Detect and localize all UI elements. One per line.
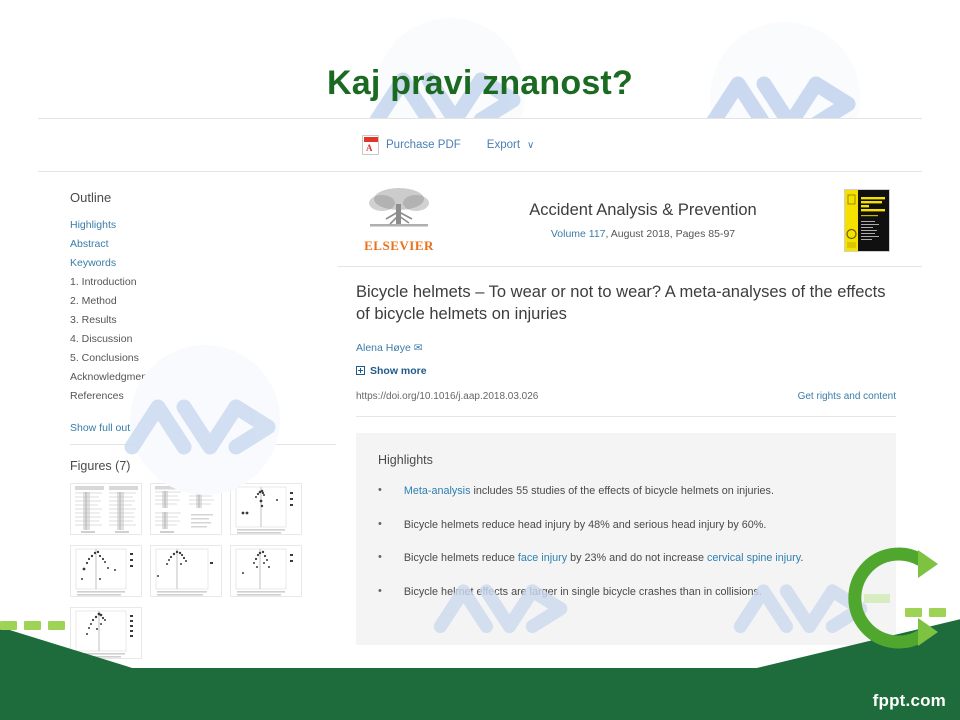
funnel-plot-icon <box>231 484 302 535</box>
show-full-outline-label: Show full outline <box>70 422 146 434</box>
divider-article <box>356 416 896 417</box>
chevron-down-icon: ∨ <box>152 423 159 434</box>
bullet-icon: • <box>378 517 382 534</box>
meta-analysis-link[interactable]: Meta-analysis <box>404 485 471 497</box>
highlight-item: • Bicycle helmets reduce face injury by … <box>378 550 874 567</box>
highlight-text-a: Bicycle helmets reduce <box>404 552 518 564</box>
export-label: Export <box>487 139 520 151</box>
forest-plot-icon <box>71 484 142 535</box>
highlight-item: • Meta-analysis includes 55 studies of t… <box>378 483 874 500</box>
divider-outline <box>70 444 336 445</box>
chevron-down-icon: ∨ <box>527 140 534 151</box>
sidebar-item-conclusions[interactable]: 5. Conclusions <box>70 352 338 364</box>
figure-thumbnail[interactable] <box>70 483 142 535</box>
sidebar-item-keywords[interactable]: Keywords <box>70 257 338 269</box>
sidebar-item-discussion[interactable]: 4. Discussion <box>70 333 338 345</box>
figure-thumbnail-grid <box>70 483 338 659</box>
fppt-watermark: fppt.com <box>873 691 946 711</box>
article-meta: Bicycle helmets – To wear or not to wear… <box>338 267 922 417</box>
show-more-button[interactable]: Show more <box>356 365 896 377</box>
forest-plot-icon <box>151 484 222 535</box>
doi-link[interactable]: https://doi.org/10.1016/j.aap.2018.03.02… <box>356 391 538 402</box>
purchase-pdf-label: Purchase PDF <box>386 139 461 151</box>
article-title: Bicycle helmets – To wear or not to wear… <box>356 281 896 326</box>
journal-issue-meta: , August 2018, Pages 85-97 <box>606 228 736 240</box>
export-button[interactable]: Export ∨ <box>487 139 535 151</box>
plus-box-icon <box>356 366 365 375</box>
face-injury-link[interactable]: face injury <box>518 552 567 564</box>
figure-thumbnail[interactable] <box>70 545 142 597</box>
funnel-plot-icon <box>231 546 302 597</box>
pdf-icon <box>362 135 379 155</box>
slide-canvas: Kaj pravi znanost? Purchase PDF Export ∨… <box>0 0 960 720</box>
doi-row: https://doi.org/10.1016/j.aap.2018.03.02… <box>356 391 896 402</box>
figures-heading: Figures (7) <box>70 459 338 473</box>
highlights-panel: Highlights • Meta-analysis includes 55 s… <box>356 433 896 645</box>
highlight-item: • Bicycle helmet effects are larger in s… <box>378 584 874 601</box>
show-more-label: Show more <box>370 365 427 377</box>
outline-list: Highlights Abstract Keywords 1. Introduc… <box>70 219 338 402</box>
sidebar-item-abstract[interactable]: Abstract <box>70 238 338 250</box>
green-band-bottom <box>0 668 960 720</box>
elsevier-tree-icon <box>362 186 436 232</box>
figure-thumbnail[interactable] <box>150 483 222 535</box>
journal-header: ELSEVIER Accident Analysis & Prevention … <box>338 172 922 266</box>
sidebar-item-introduction[interactable]: 1. Introduction <box>70 276 338 288</box>
sidebar-item-results[interactable]: 3. Results <box>70 314 338 326</box>
highlight-text-b: by 23% and do not increase <box>567 552 707 564</box>
highlight-text: Bicycle helmets reduce head injury by 48… <box>404 517 767 534</box>
sidebar-item-method[interactable]: 2. Method <box>70 295 338 307</box>
outline-sidebar: Outline Highlights Abstract Keywords 1. … <box>38 172 338 659</box>
bullet-icon: • <box>378 550 382 567</box>
purchase-pdf-button[interactable]: Purchase PDF <box>362 135 461 155</box>
cervical-spine-injury-link[interactable]: cervical spine injury <box>707 552 800 564</box>
journal-name: Accident Analysis & Prevention <box>452 201 834 220</box>
bullet-icon: • <box>378 483 382 500</box>
funnel-plot-icon <box>151 546 222 597</box>
figure-thumbnail[interactable] <box>230 545 302 597</box>
article-author[interactable]: Alena Høye ✉ <box>356 342 896 354</box>
get-rights-link[interactable]: Get rights and content <box>798 391 896 402</box>
green-arrow-arc-decoration <box>826 538 946 658</box>
highlight-text: Bicycle helmets reduce face injury by 23… <box>404 550 804 567</box>
slide-title: Kaj pravi znanost? <box>0 64 960 103</box>
sidebar-item-highlights[interactable]: Highlights <box>70 219 338 231</box>
highlights-heading: Highlights <box>378 453 874 467</box>
dash-decoration-left <box>0 621 65 630</box>
highlight-item: • Bicycle helmets reduce head injury by … <box>378 517 874 534</box>
funnel-plot-icon <box>71 546 142 597</box>
figure-thumbnail[interactable] <box>70 607 142 659</box>
outline-heading: Outline <box>70 190 338 205</box>
elsevier-wordmark: ELSEVIER <box>356 238 442 254</box>
highlight-text: Meta-analysis includes 55 studies of the… <box>404 483 774 500</box>
sciencedirect-screenshot: Purchase PDF Export ∨ Outline Highlights… <box>38 118 922 691</box>
show-full-outline-button[interactable]: Show full outline ∨ <box>70 422 338 434</box>
bullet-icon: • <box>378 584 382 601</box>
journal-meta: Volume 117, August 2018, Pages 85-97 <box>452 228 834 240</box>
journal-cover-thumbnail[interactable] <box>844 189 890 252</box>
article-toolbar: Purchase PDF Export ∨ <box>38 119 922 171</box>
journal-cover-icon <box>845 190 889 251</box>
elsevier-logo: ELSEVIER <box>356 186 442 254</box>
figure-thumbnail[interactable] <box>150 545 222 597</box>
sidebar-item-acknowledgments[interactable]: Acknowledgments <box>70 371 338 383</box>
journal-title-block: Accident Analysis & Prevention Volume 11… <box>452 201 834 240</box>
highlight-text: Bicycle helmet effects are larger in sin… <box>404 584 762 601</box>
sidebar-item-references[interactable]: References <box>70 390 338 402</box>
journal-volume[interactable]: Volume 117 <box>551 228 606 240</box>
figure-thumbnail[interactable] <box>230 483 302 535</box>
highlight-text-c: . <box>800 552 803 564</box>
article-body: Outline Highlights Abstract Keywords 1. … <box>38 172 922 659</box>
highlight-text-rest: includes 55 studies of the effects of bi… <box>470 485 773 497</box>
funnel-plot-icon <box>71 608 142 659</box>
